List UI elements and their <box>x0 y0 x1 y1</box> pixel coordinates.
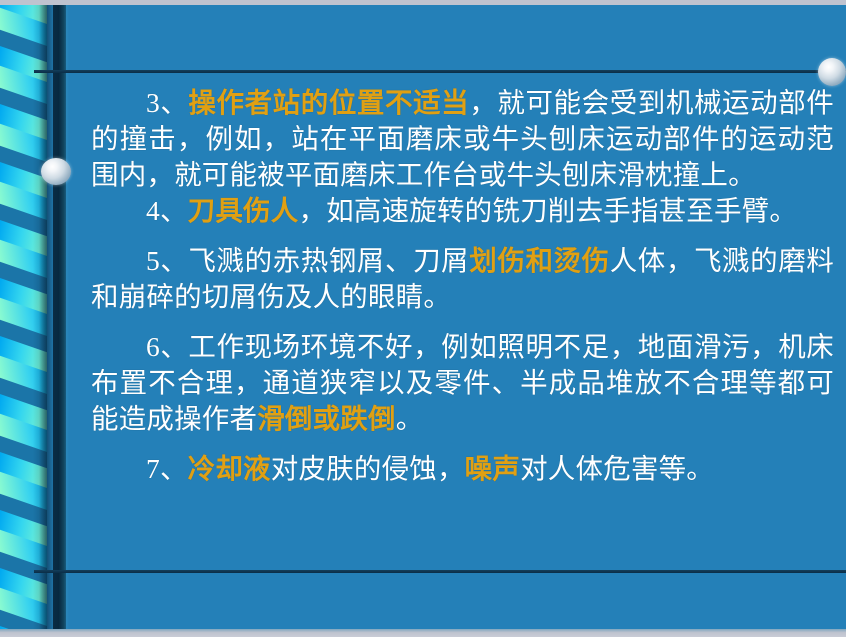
bottom-divider-bar <box>34 570 846 579</box>
bottom-blank-band <box>69 579 846 629</box>
list-item: 6、工作现场环境不好，例如照明不足，地面滑污，机床布置不合理，通道狭窄以及零件、… <box>91 329 834 437</box>
item-highlight: 刀具伤人 <box>188 195 299 226</box>
item-highlight: 划伤和烫伤 <box>469 245 609 276</box>
item-number: 7、 <box>146 453 188 484</box>
item-highlight: 滑倒或跌倒 <box>257 403 396 434</box>
top-divider-bar <box>34 70 846 79</box>
item-highlight: 冷却液 <box>188 453 271 484</box>
item-text: 。 <box>396 403 424 434</box>
ribbon-shadow <box>39 0 53 637</box>
item-text: 对人体危害等。 <box>520 453 714 484</box>
item-text-pre: 工作现场环境不好，例如照明不足，地面滑污，机床布置不合理，通道狭窄以及零件、半成… <box>91 331 834 434</box>
top-edge-strip <box>0 0 846 5</box>
item-number: 5、 <box>146 245 188 276</box>
paragraph-list: 3、操作者站的位置不适当，就可能会受到机械运动部件的撞击，例如，站在平面磨床或牛… <box>69 79 846 487</box>
list-item: 5、飞溅的赤热钢屑、刀屑划伤和烫伤人体，飞溅的磨料和崩碎的切屑伤及人的眼睛。 <box>91 243 834 315</box>
bottom-edge-strip <box>0 629 846 637</box>
left-bullet-sphere-icon <box>41 158 71 185</box>
item-number: 3、 <box>146 87 188 118</box>
slide-canvas: 3、操作者站的位置不适当，就可能会受到机械运动部件的撞击，例如，站在平面磨床或牛… <box>0 0 846 637</box>
list-item: 4、刀具伤人，如高速旋转的铣刀削去手指甚至手臂。 <box>91 193 834 229</box>
list-item: 3、操作者站的位置不适当，就可能会受到机械运动部件的撞击，例如，站在平面磨床或牛… <box>91 85 834 193</box>
item-text-pre: 飞溅的赤热钢屑、刀屑 <box>188 245 469 276</box>
item-highlight-secondary: 噪声 <box>465 453 520 484</box>
item-text: ，如高速旋转的铣刀削去手指甚至手臂。 <box>298 195 797 226</box>
content-panel: 3、操作者站的位置不适当，就可能会受到机械运动部件的撞击，例如，站在平面磨床或牛… <box>69 79 846 570</box>
item-text-mid: 对皮肤的侵蚀， <box>271 453 465 484</box>
item-number: 4、 <box>146 195 188 226</box>
item-highlight: 操作者站的位置不适当 <box>188 87 469 118</box>
right-bullet-sphere-icon <box>818 58 846 86</box>
item-number: 6、 <box>146 331 188 362</box>
list-item: 7、冷却液对皮肤的侵蚀，噪声对人体危害等。 <box>91 451 834 487</box>
